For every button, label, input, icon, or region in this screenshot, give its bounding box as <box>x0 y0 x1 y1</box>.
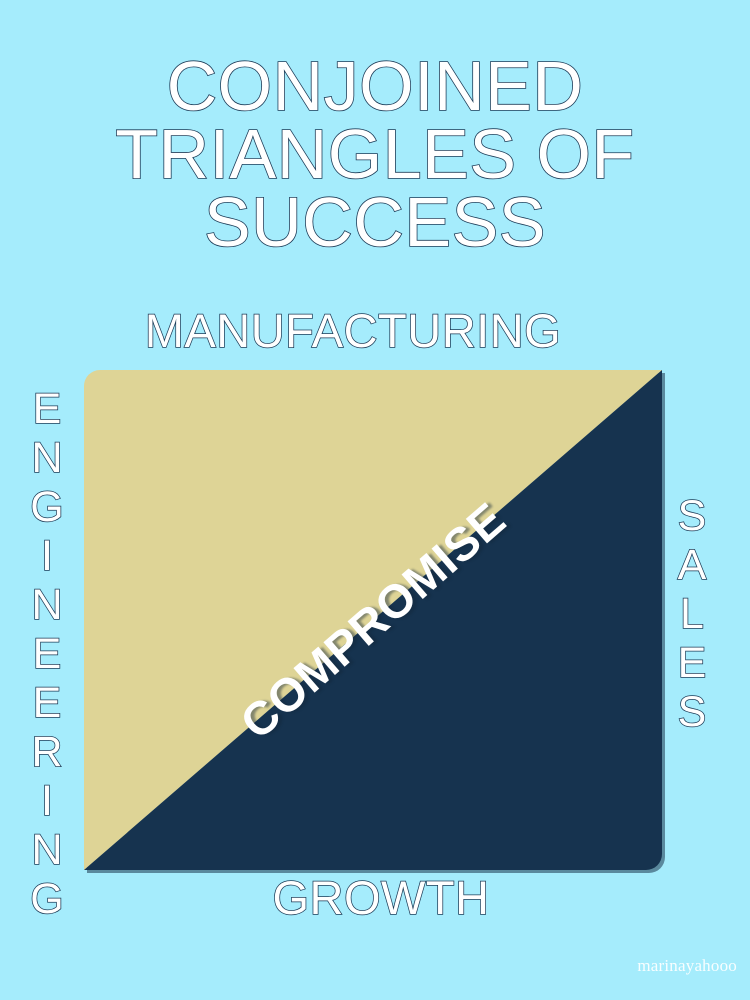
engineering-letter: E <box>19 679 75 728</box>
engineering-letter: E <box>19 630 75 679</box>
engineering-letter: N <box>19 826 75 875</box>
conjoined-triangles-diagram: COMPROMISE <box>84 370 662 870</box>
edge-label-engineering: E N G I N E E R I N G <box>19 385 75 924</box>
edge-label-manufacturing: MANUFACTURING <box>0 305 706 357</box>
engineering-letter: N <box>19 581 75 630</box>
edge-label-sales: S A L E S <box>664 492 720 737</box>
sales-letter: S <box>664 492 720 541</box>
sales-letter: L <box>664 590 720 639</box>
sales-letter: A <box>664 541 720 590</box>
sales-letter: E <box>664 639 720 688</box>
engineering-letter: R <box>19 728 75 777</box>
edge-label-growth: GROWTH <box>0 872 750 924</box>
engineering-letter: G <box>19 483 75 532</box>
triangles-shape <box>84 370 662 870</box>
engineering-letter: E <box>19 385 75 434</box>
engineering-letter: I <box>19 777 75 826</box>
engineering-letter: N <box>19 434 75 483</box>
sales-letter: S <box>664 688 720 737</box>
engineering-letter: I <box>19 532 75 581</box>
page-title: CONJOINED TRIANGLES OF SUCCESS <box>0 52 750 256</box>
poster-canvas: CONJOINED TRIANGLES OF SUCCESS MANUFACTU… <box>0 0 750 1000</box>
artist-watermark: marinayahooo <box>637 956 737 976</box>
